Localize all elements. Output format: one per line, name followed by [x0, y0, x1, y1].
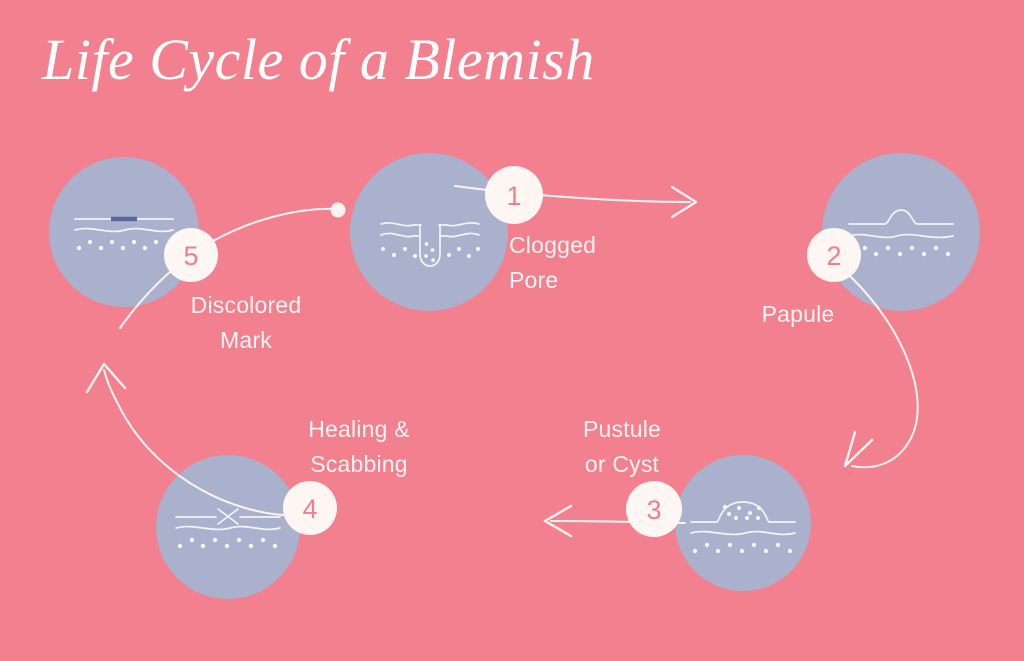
arrow-2-to-3-head: [845, 432, 872, 466]
stage-badge-5-number: 5: [183, 241, 198, 271]
stage-badge-1-number: 1: [506, 181, 521, 211]
stage-circle-5: [49, 157, 199, 307]
stage-label-papule: Papule: [728, 297, 868, 332]
stage-circle-1: [350, 153, 508, 311]
stage-label-discolored-mark: Discolored Mark: [166, 288, 326, 357]
stage-label-clogged-pore: Clogged Pore: [509, 228, 679, 297]
stage-badge-1[interactable]: 1: [485, 166, 543, 224]
stage-badge-2-number: 2: [826, 241, 841, 271]
stage-circle-3: [675, 455, 811, 591]
stage-badge-3-number: 3: [646, 495, 661, 525]
blemish-lifecycle-infographic: Life Cycle of a Blemish: [0, 0, 1024, 661]
stage-badge-3[interactable]: 3: [626, 481, 682, 537]
stage-label-pustule-cyst: Pustule or Cyst: [552, 412, 692, 481]
stage-label-healing-scabbing: Healing & Scabbing: [279, 412, 439, 481]
arc-5-to-1-endpoint-dot: [331, 203, 346, 218]
stage-badge-5[interactable]: 5: [164, 228, 218, 282]
stage-badge-4-number: 4: [302, 494, 317, 524]
stage-badge-2[interactable]: 2: [807, 228, 861, 282]
stage-badge-4[interactable]: 4: [283, 481, 337, 535]
diagram-canvas: 1 2 3 4 5: [0, 0, 1024, 661]
